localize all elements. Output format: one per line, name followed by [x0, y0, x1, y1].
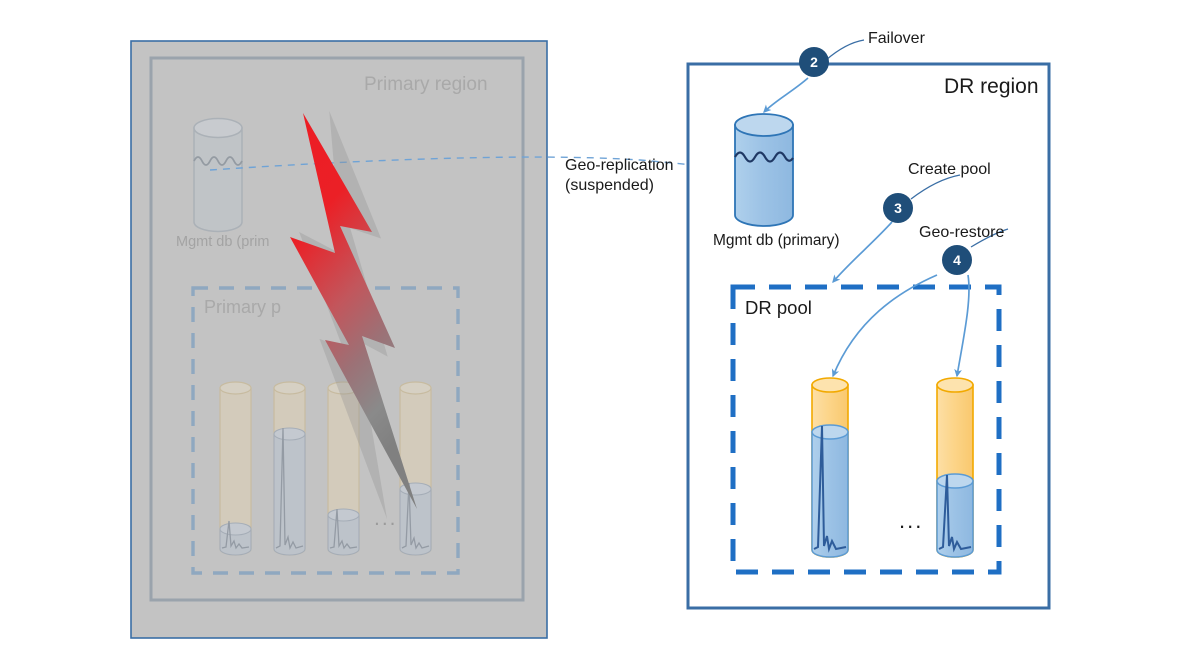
dr-region-label: DR region	[944, 75, 1039, 100]
primary-pool-label: Primary p	[204, 297, 281, 318]
step-2-leader-line	[826, 40, 864, 60]
step-label-geo-restore: Geo-restore	[919, 224, 1004, 243]
dr-pool-label: DR pool	[745, 297, 812, 319]
step-badge-2[interactable]: 2	[799, 47, 829, 77]
step-badge-3[interactable]: 3	[883, 193, 913, 223]
primary-mgmt-db-cylinder	[194, 119, 242, 232]
diagram-graphics	[0, 0, 1195, 672]
step-label-create-pool: Create pool	[908, 161, 991, 180]
geo-replication-label-line2: (suspended)	[565, 177, 654, 196]
step-label-failover: Failover	[868, 30, 925, 49]
dr-mgmt-db-label: Mgmt db (primary)	[713, 232, 840, 250]
dr-db-2	[937, 378, 973, 557]
geo-replication-label-line1: Geo-replication	[565, 157, 674, 176]
primary-pool-ellipsis: ...	[374, 507, 398, 532]
primary-region-label: Primary region	[364, 74, 488, 96]
dr-pool-ellipsis: ...	[899, 508, 923, 534]
primary-db-2	[274, 382, 305, 555]
dr-mgmt-db-cylinder	[735, 114, 793, 226]
primary-db-4	[400, 382, 431, 555]
dr-db-1	[812, 378, 848, 557]
primary-mgmt-db-label: Mgmt db (prim	[176, 234, 269, 251]
primary-db-1	[220, 382, 251, 555]
diagram-canvas: Primary region Mgmt db (prim Primary p .…	[0, 0, 1195, 672]
step-badge-4[interactable]: 4	[942, 245, 972, 275]
